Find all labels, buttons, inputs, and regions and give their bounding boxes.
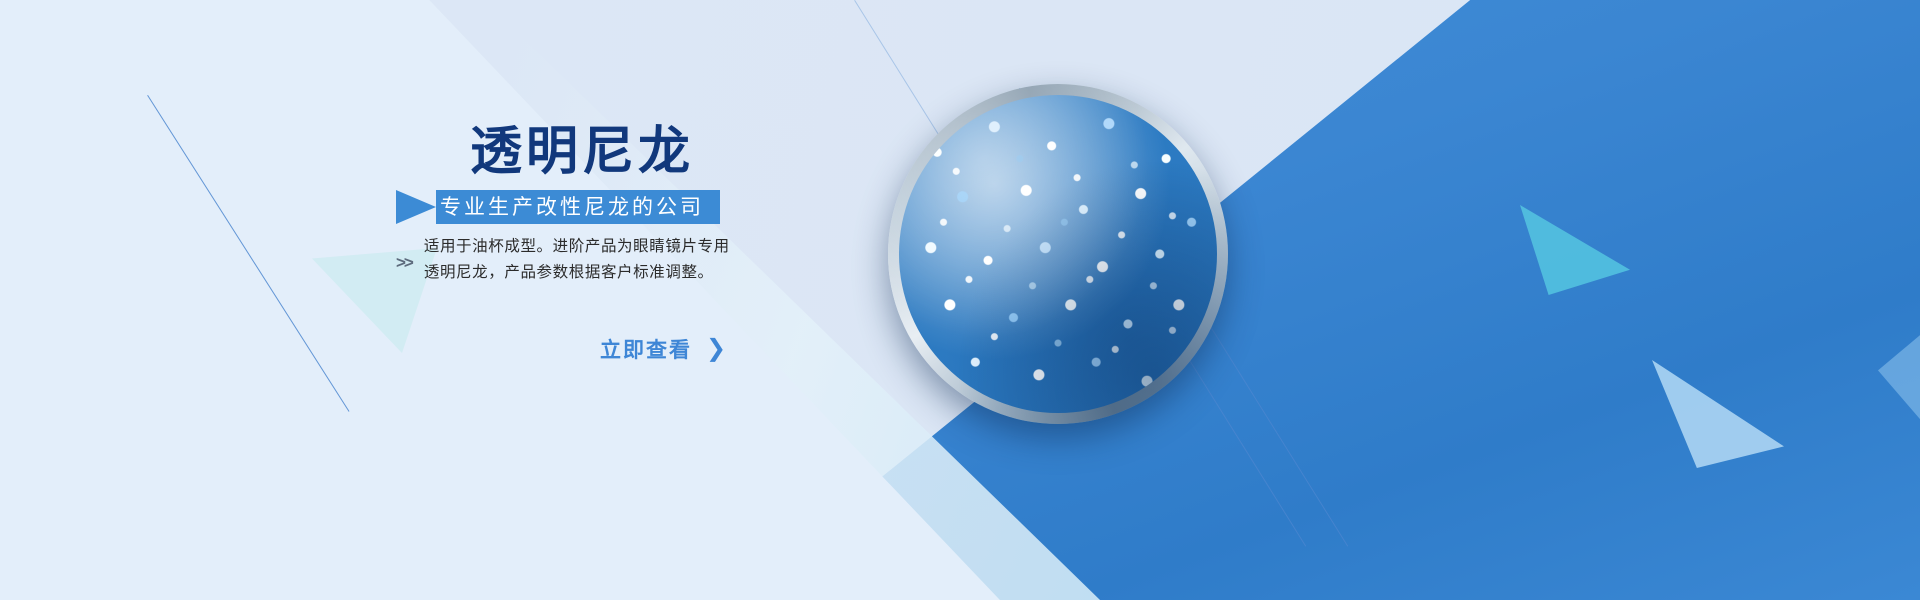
tagline-ribbon: 专业生产改性尼龙的公司: [396, 190, 720, 224]
tagline-text: 专业生产改性尼龙的公司: [440, 197, 704, 218]
hero-content: 透明尼龙 专业生产改性尼龙的公司 >> 适用于油杯成型。进阶产品为眼睛镜片专用透…: [0, 0, 960, 600]
ribbon-arrow-icon: [396, 190, 436, 224]
hero-banner: 透明尼龙 专业生产改性尼龙的公司 >> 适用于油杯成型。进阶产品为眼睛镜片专用透…: [0, 0, 1920, 600]
double-chevron-icon: >>: [396, 253, 412, 273]
description-block: >> 适用于油杯成型。进阶产品为眼睛镜片专用透明尼龙，产品参数根据客户标准调整。: [396, 234, 742, 286]
page-title: 透明尼龙: [470, 126, 694, 178]
chevron-right-icon: ❯: [706, 337, 728, 361]
ribbon-body: 专业生产改性尼龙的公司: [436, 190, 720, 224]
cta-label: 立即查看: [600, 334, 692, 364]
view-now-link[interactable]: 立即查看 ❯: [600, 334, 728, 364]
description-text: 适用于油杯成型。进阶产品为眼睛镜片专用透明尼龙，产品参数根据客户标准调整。: [424, 234, 742, 286]
